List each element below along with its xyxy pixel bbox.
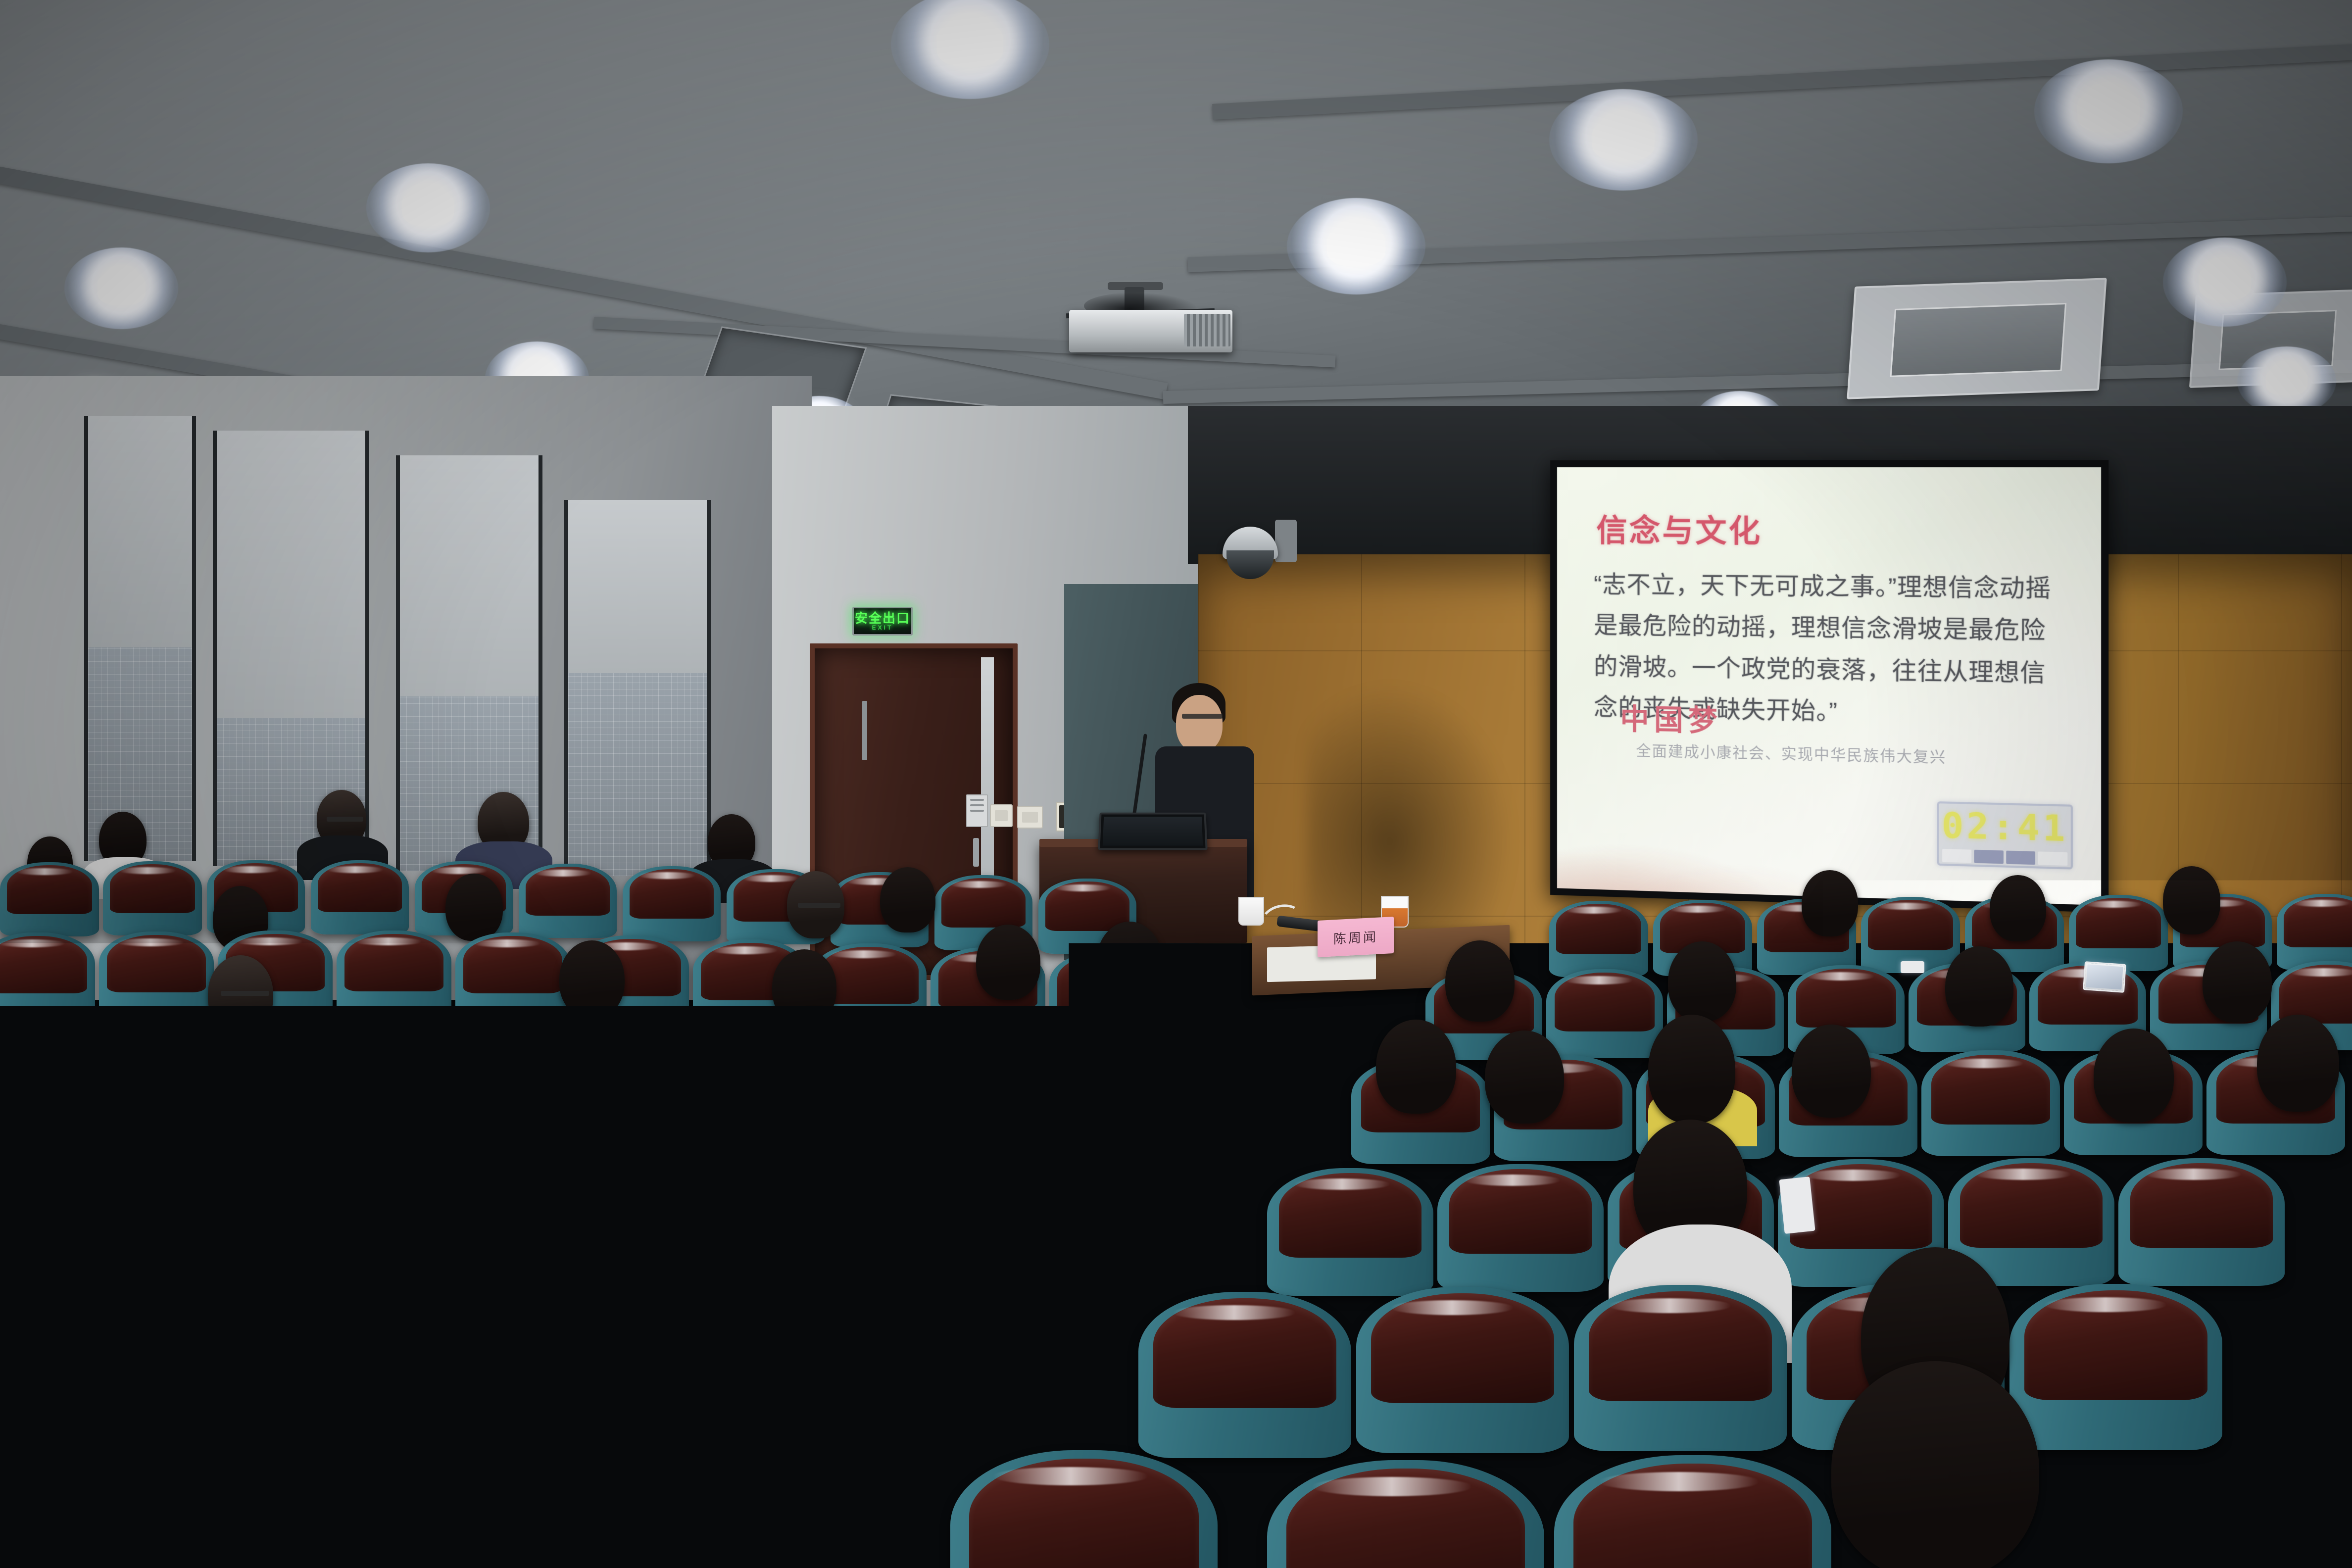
audience-head bbox=[1445, 940, 1515, 1022]
auditorium-seat[interactable] bbox=[0, 1019, 92, 1123]
audience-head bbox=[1792, 1025, 1871, 1118]
wall-dome-camera-icon bbox=[1223, 520, 1297, 584]
audience-head bbox=[2094, 1029, 2174, 1123]
audience-head bbox=[728, 1223, 866, 1391]
slide-dream-heading: 中国梦 bbox=[1620, 695, 1722, 739]
auditorium-seat[interactable] bbox=[104, 1248, 312, 1412]
timer-digits: 02:41 bbox=[1939, 803, 2071, 851]
auditorium-seat[interactable] bbox=[1574, 1285, 1787, 1451]
light-switch-plate[interactable] bbox=[990, 804, 1013, 827]
audience-head bbox=[1668, 941, 1736, 1022]
auditorium-seat[interactable] bbox=[673, 1440, 940, 1568]
auditorium-seat[interactable] bbox=[1437, 1164, 1604, 1292]
auditorium-seat[interactable] bbox=[317, 1252, 525, 1416]
auditorium-seat[interactable] bbox=[1549, 901, 1648, 977]
ceiling-beam bbox=[1163, 359, 2352, 404]
audience-head bbox=[218, 1050, 326, 1174]
audience-head bbox=[880, 867, 935, 932]
auditorium-seat[interactable] bbox=[2009, 1284, 2222, 1450]
audience-head bbox=[1109, 1107, 1223, 1239]
door-plate bbox=[862, 701, 867, 760]
ceiling-beam bbox=[1187, 214, 2352, 272]
audience-head bbox=[1089, 999, 1166, 1090]
auditorium-seat[interactable] bbox=[596, 1129, 759, 1255]
ceiling-beam bbox=[1212, 39, 2352, 120]
auditorium-seat[interactable] bbox=[311, 860, 409, 934]
audience-head bbox=[1990, 875, 2046, 941]
presenter-laptop[interactable] bbox=[1098, 813, 1207, 850]
glasses-icon bbox=[798, 903, 840, 908]
door-handle[interactable] bbox=[973, 838, 979, 867]
audience-tablet[interactable] bbox=[2083, 961, 2126, 993]
audience-head bbox=[1485, 1030, 1564, 1124]
auditorium-seat[interactable] bbox=[119, 1421, 386, 1568]
auditorium-seat[interactable] bbox=[519, 864, 617, 938]
slide-subtitle: 全面建成小康社会、实现中华民族伟大复兴 bbox=[1636, 738, 1946, 767]
auditorium-seat[interactable] bbox=[2277, 894, 2352, 970]
audience-shoulders bbox=[940, 1184, 1138, 1323]
ceiling-downlight bbox=[64, 247, 178, 329]
auditorium-seat[interactable] bbox=[99, 931, 214, 1019]
audience-phone[interactable] bbox=[1901, 961, 1924, 973]
window-column bbox=[84, 416, 196, 861]
auditorium-seat[interactable] bbox=[1138, 1292, 1351, 1458]
wall-notice-sign bbox=[966, 794, 988, 827]
exit-sign: 安全出口 EXIT bbox=[852, 607, 913, 636]
light-switch-plate[interactable] bbox=[1017, 806, 1043, 829]
audience-head bbox=[559, 940, 625, 1018]
audience-head bbox=[1802, 870, 1858, 936]
auditorium-seat[interactable] bbox=[1267, 1460, 1544, 1568]
ceiling-ac-cassette bbox=[1847, 278, 2107, 399]
audience-head bbox=[1945, 946, 2013, 1027]
auditorium-seat[interactable] bbox=[510, 1022, 646, 1126]
audience-head bbox=[1376, 1020, 1456, 1114]
audience-head bbox=[445, 874, 503, 941]
auditorium-seat[interactable] bbox=[1921, 1050, 2060, 1156]
presentation-countdown-timer: 02:41 bbox=[1937, 801, 2073, 870]
auditorium-seat[interactable] bbox=[430, 1125, 593, 1250]
auditorium-seat[interactable] bbox=[1356, 1287, 1569, 1453]
ceiling-downlight bbox=[1549, 89, 1698, 191]
audience-head bbox=[673, 1011, 748, 1099]
exit-sign-en-label: EXIT bbox=[872, 625, 893, 631]
audience-head bbox=[1831, 1361, 2039, 1568]
auditorium-seat[interactable] bbox=[1267, 1168, 1433, 1296]
audience-head bbox=[2163, 866, 2220, 934]
auditorium-seat[interactable] bbox=[1546, 969, 1663, 1058]
ceiling-projector bbox=[1069, 287, 1237, 356]
auditorium-seat[interactable] bbox=[623, 866, 721, 941]
slide-title: 信念与文化 bbox=[1596, 505, 1762, 551]
ceiling-downlight bbox=[891, 0, 1049, 99]
ceiling-downlight bbox=[1287, 198, 1425, 294]
auditorium-seat[interactable] bbox=[1554, 1455, 1831, 1568]
auditorium-seat[interactable] bbox=[950, 1450, 1218, 1568]
auditorium-seat[interactable] bbox=[0, 932, 95, 1020]
judge-name-card: 陈周闻 bbox=[1318, 917, 1394, 957]
auditorium-seat[interactable] bbox=[103, 861, 202, 935]
auditorium-seat[interactable] bbox=[530, 1258, 737, 1421]
audience-phone[interactable] bbox=[1779, 1176, 1815, 1234]
audience-head bbox=[1648, 1015, 1735, 1124]
auditorium-seat[interactable] bbox=[371, 1019, 508, 1123]
auditorium-seat[interactable] bbox=[0, 862, 99, 936]
audience-head bbox=[777, 1010, 851, 1097]
audience-head bbox=[2203, 941, 2272, 1023]
window-column bbox=[564, 500, 711, 876]
glasses-icon bbox=[221, 991, 269, 996]
paper-cup bbox=[1238, 897, 1264, 926]
auditorium-seat[interactable] bbox=[455, 932, 570, 1020]
presenter-head bbox=[1176, 695, 1223, 752]
projection-screen: 信念与文化 “志不立，天下无可成之事。”理想信念动摇是最危险的动摇，理想信念滑坡… bbox=[1550, 460, 2108, 913]
auditorium-seat[interactable] bbox=[2118, 1158, 2285, 1286]
auditorium-seat[interactable] bbox=[337, 931, 451, 1018]
auditorium-seat[interactable] bbox=[396, 1430, 663, 1568]
lecture-hall-photo: 安全出口 EXIT 信念与文化 “志不立，天下无可成之事。”理想信念动摇是最危险… bbox=[0, 0, 2352, 1568]
audience-head bbox=[976, 925, 1040, 1000]
auditorium-seat[interactable] bbox=[0, 1416, 109, 1568]
auditorium-seat[interactable] bbox=[0, 1123, 94, 1248]
glasses-icon bbox=[1182, 714, 1223, 719]
auditorium-seat[interactable] bbox=[2069, 895, 2168, 971]
audience-head bbox=[2257, 1015, 2339, 1112]
glasses-icon bbox=[327, 817, 363, 822]
ceiling-ac-cassette bbox=[2189, 289, 2352, 388]
auditorium-seat[interactable] bbox=[0, 1247, 99, 1411]
presentation-slide: 信念与文化 “志不立，天下无可成之事。”理想信念动摇是最危险的动摇，理想信念滑坡… bbox=[1557, 467, 2101, 905]
exit-sign-cn-label: 安全出口 bbox=[855, 612, 910, 625]
